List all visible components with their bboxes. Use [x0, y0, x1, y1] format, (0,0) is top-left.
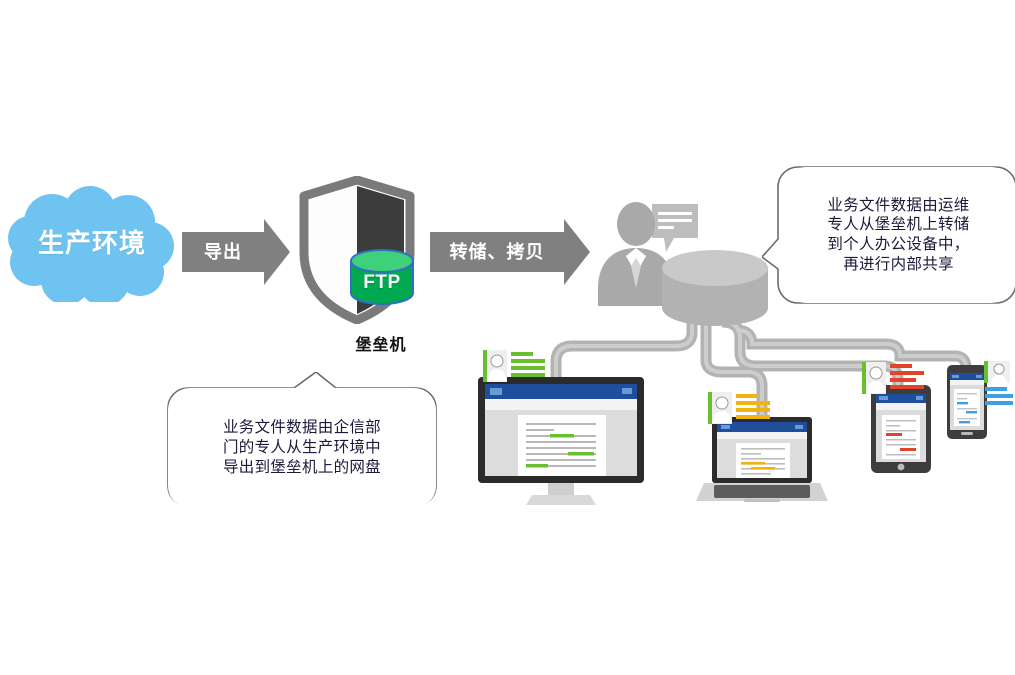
- arrow-export: 导出: [182, 219, 290, 285]
- pipe-connectors: [0, 0, 1015, 675]
- tablet: [870, 384, 932, 474]
- desktop-monitor: [474, 375, 652, 507]
- callout-export-note: 业务文件数据由企信部 门的专人从生产环境中 导出到堡垒机上的网盘: [168, 388, 436, 508]
- laptop-shape: [696, 415, 828, 509]
- profile-card-icon: [708, 392, 770, 426]
- central-database-cylinder: [660, 250, 770, 328]
- bastion-host-label: 堡垒机: [316, 331, 446, 355]
- arrow-transfer-copy: 转储、拷贝: [430, 219, 590, 285]
- cloud-label: 生产环境: [8, 186, 176, 302]
- diagram-canvas: 生产环境 导出 FTP 堡垒机 转储、拷贝: [0, 0, 1015, 675]
- profile-card-green: [483, 350, 545, 384]
- arrow-export-head: [264, 219, 290, 285]
- profile-card-blue: [984, 361, 1015, 395]
- monitor-shape: [474, 375, 652, 507]
- central-db-shape: [660, 250, 770, 328]
- arrow-export-label: 导出: [182, 232, 264, 272]
- arrow-transfer-copy-label: 转储、拷贝: [430, 232, 564, 272]
- production-environment-cloud: 生产环境: [8, 186, 176, 302]
- arrow-transfer-copy-head: [564, 219, 590, 285]
- profile-card-yellow: [708, 392, 770, 426]
- profile-card-icon: [862, 362, 924, 396]
- laptop: [696, 415, 828, 509]
- speech-bubble-icon: [652, 204, 698, 252]
- smartphone: [946, 364, 988, 440]
- phone-shape: [946, 364, 988, 440]
- callout-share-note: 业务文件数据由运维 专人从堡垒机上转储 到个人办公设备中， 再进行内部共享: [778, 167, 1013, 303]
- profile-card-red: [862, 362, 924, 396]
- profile-card-icon: [984, 361, 1014, 409]
- ftp-database-cylinder: FTP: [349, 249, 415, 305]
- ftp-label: FTP: [349, 265, 415, 301]
- tablet-shape: [870, 384, 932, 474]
- callout-share-note-text: 业务文件数据由运维 专人从堡垒机上转储 到个人办公设备中， 再进行内部共享: [784, 167, 1013, 303]
- profile-card-icon: [483, 350, 545, 384]
- callout-export-note-text: 业务文件数据由企信部 门的专人从生产环境中 导出到堡垒机上的网盘: [168, 388, 436, 508]
